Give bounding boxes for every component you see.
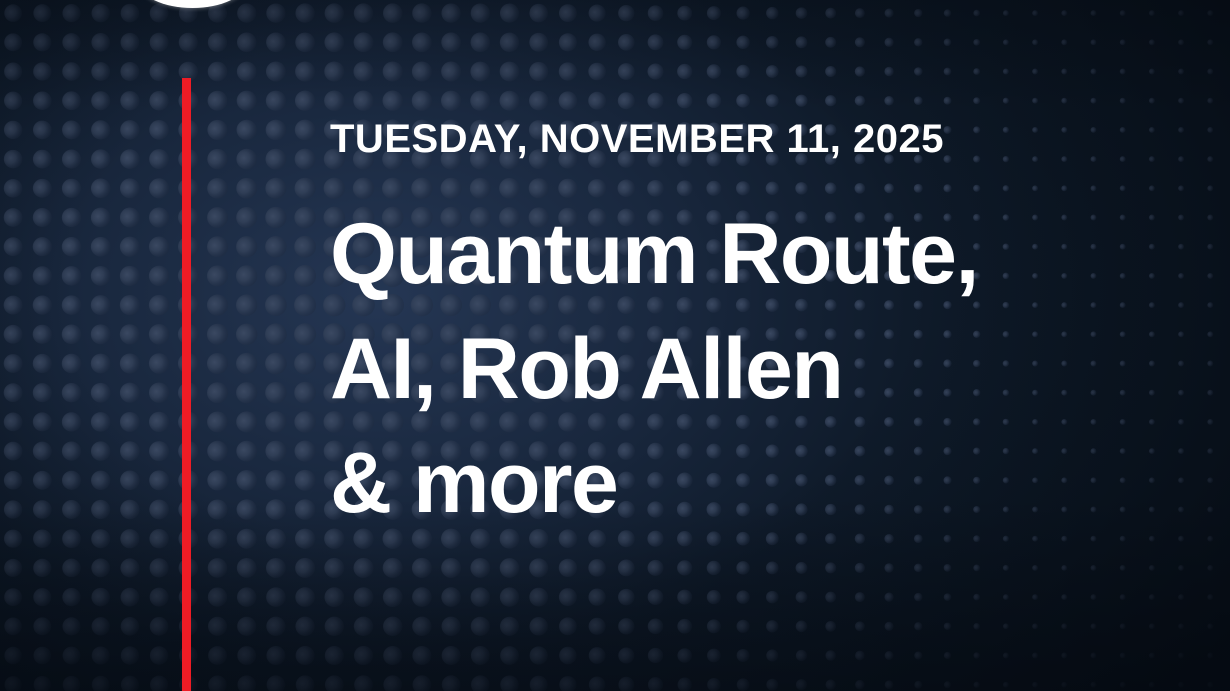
date-label: TUESDAY, NOVEMBER 11, 2025 [330,118,1210,161]
headline-line-1: Quantum Route, [330,197,1210,311]
headline: Quantum Route, AI, Rob Allen & more [330,161,1210,540]
newsletter-banner: TUESDAY, NOVEMBER 11, 2025 Quantum Route… [0,0,1230,691]
headline-line-3: & more [330,426,1210,540]
banner-content: TUESDAY, NOVEMBER 11, 2025 Quantum Route… [330,118,1210,540]
red-vertical-rule [182,78,191,691]
headline-line-2: AI, Rob Allen [330,312,1210,426]
